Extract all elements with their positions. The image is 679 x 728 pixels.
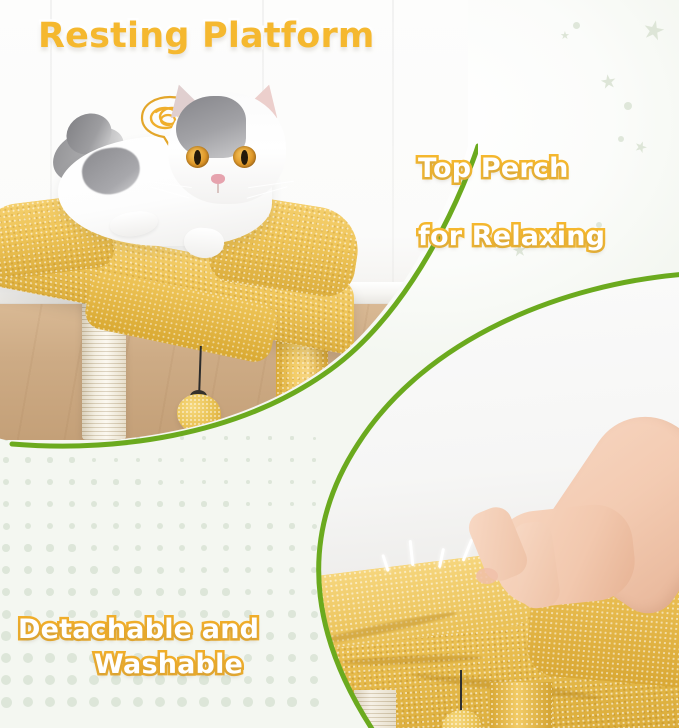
pattern-dot <box>69 501 75 507</box>
pattern-dot <box>47 501 53 507</box>
pattern-dot <box>224 436 228 440</box>
pattern-dot <box>179 567 186 574</box>
pattern-dot <box>290 458 294 462</box>
pattern-dot <box>157 501 163 507</box>
pattern-dot <box>311 589 318 596</box>
pattern-dot <box>25 523 32 530</box>
pattern-dot <box>268 436 271 439</box>
pattern-dot <box>69 523 76 530</box>
pattern-dot <box>3 479 9 485</box>
pattern-dot <box>267 523 272 528</box>
pattern-dot <box>223 501 228 506</box>
pattern-dot <box>202 458 206 462</box>
cat-nose <box>211 174 225 184</box>
pattern-dot <box>1 653 11 663</box>
pattern-dot <box>265 697 274 706</box>
pattern-dot <box>158 480 163 485</box>
pattern-dot <box>135 523 141 529</box>
pattern-dot <box>158 436 162 440</box>
pattern-dot <box>289 523 294 528</box>
pattern-dot <box>289 567 295 573</box>
pattern-dot <box>3 523 10 530</box>
pattern-dot <box>3 457 9 463</box>
pattern-dot <box>201 545 207 551</box>
pattern-dot <box>69 479 75 485</box>
pattern-dot <box>311 611 318 618</box>
pattern-dot <box>180 480 185 485</box>
cat-mouth <box>217 184 219 193</box>
pattern-dot <box>1 631 11 641</box>
top-perch-heading-line2: for Relaxing <box>418 221 605 252</box>
pattern-dot <box>310 632 318 640</box>
pattern-dot <box>290 480 294 484</box>
pattern-dot <box>266 676 275 685</box>
pattern-dot <box>310 698 319 707</box>
pattern-dot <box>112 566 119 573</box>
pattern-dot <box>135 479 140 484</box>
pattern-dot <box>246 502 251 507</box>
dot-decoration <box>618 136 624 142</box>
pattern-dot <box>310 676 319 685</box>
pattern-dot <box>2 610 11 619</box>
pattern-dot <box>290 436 293 439</box>
cat <box>52 88 312 248</box>
pattern-dot <box>266 632 274 640</box>
pattern-dot <box>312 502 317 507</box>
pattern-dot <box>179 523 185 529</box>
pattern-dot <box>201 501 206 506</box>
pattern-dot <box>313 437 316 440</box>
cat-eye-right <box>233 146 256 168</box>
pattern-dot <box>135 501 141 507</box>
pattern-dot <box>114 458 119 463</box>
pattern-dot <box>136 458 141 463</box>
pattern-dot <box>290 502 295 507</box>
pattern-dot <box>223 545 229 551</box>
pattern-dot <box>69 457 74 462</box>
pattern-dot <box>246 480 250 484</box>
pattern-dot <box>266 610 273 617</box>
pattern-dot <box>134 566 141 573</box>
pattern-dot <box>157 567 164 574</box>
pattern-dot <box>1 675 12 686</box>
pattern-dot <box>90 566 97 573</box>
detachable-heading-line1: Detachable and <box>18 614 259 645</box>
pattern-dot <box>91 545 98 552</box>
pattern-dot <box>180 436 184 440</box>
pattern-dot <box>24 566 32 574</box>
cat-eye-left <box>186 146 209 168</box>
hand <box>472 478 679 628</box>
pattern-dot <box>312 480 316 484</box>
infographic-page: ★★★★★ <box>0 0 679 728</box>
pattern-dot <box>157 523 163 529</box>
fingernail <box>476 568 498 584</box>
pattern-dot <box>158 458 163 463</box>
pattern-dot <box>113 501 119 507</box>
pattern-dot <box>91 479 96 484</box>
pattern-dot <box>179 545 185 551</box>
pattern-dot <box>3 501 10 508</box>
pattern-dot <box>245 567 251 573</box>
toy-string <box>460 670 462 714</box>
pattern-dot <box>2 588 11 597</box>
dot-decoration <box>573 22 580 29</box>
pattern-dot <box>113 479 118 484</box>
pattern-dot <box>310 654 318 662</box>
pattern-dot <box>201 567 208 574</box>
pattern-dot <box>46 544 53 551</box>
pattern-dot <box>312 458 316 462</box>
pattern-dot <box>288 632 296 640</box>
detachable-heading-line2: Washable <box>18 647 259 682</box>
pattern-dot <box>268 480 272 484</box>
pattern-dot <box>287 697 296 706</box>
pattern-dot <box>245 523 250 528</box>
pattern-dot <box>1 697 12 708</box>
pattern-dot <box>25 479 31 485</box>
pattern-dot <box>246 436 249 439</box>
pattern-dot <box>311 567 317 573</box>
top-perch-heading-line1: Top Perch <box>418 153 569 184</box>
pattern-dot <box>289 589 296 596</box>
pattern-dot <box>267 589 274 596</box>
pattern-dot <box>24 544 31 551</box>
pattern-dot <box>202 436 206 440</box>
pattern-dot <box>25 501 31 507</box>
pattern-dot <box>288 654 296 662</box>
pattern-dot <box>267 567 273 573</box>
pattern-dot <box>223 523 229 529</box>
pattern-dot <box>311 545 317 551</box>
pattern-dot <box>2 544 10 552</box>
pattern-dot <box>268 502 273 507</box>
pattern-dot <box>92 458 97 463</box>
star-icon: ★ <box>599 72 619 93</box>
pattern-dot <box>91 501 97 507</box>
pattern-dot <box>25 457 30 462</box>
pattern-dot <box>68 566 76 574</box>
pattern-dot <box>180 458 184 462</box>
pattern-dot <box>288 610 295 617</box>
pattern-dot <box>46 566 54 574</box>
pattern-dot <box>68 544 75 551</box>
dot-decoration <box>624 102 632 110</box>
pattern-dot <box>266 654 274 662</box>
pattern-dot <box>268 458 272 462</box>
pattern-dot <box>267 545 273 551</box>
detachable-heading: Detachable and Washable <box>18 577 259 717</box>
pattern-dot <box>224 480 229 485</box>
pattern-dot <box>2 566 10 574</box>
pattern-dot <box>201 523 207 529</box>
pattern-dot <box>113 545 120 552</box>
star-icon: ★ <box>560 30 570 41</box>
pattern-dot <box>157 545 164 552</box>
pattern-dot <box>91 523 97 529</box>
pattern-dot <box>47 457 52 462</box>
pattern-dot <box>245 545 251 551</box>
pattern-dot <box>202 480 207 485</box>
pattern-dot <box>289 545 295 551</box>
top-perch-heading: Top Perch for Relaxing <box>418 118 605 254</box>
pattern-dot <box>135 545 142 552</box>
pattern-dot <box>223 567 230 574</box>
fleece-post <box>490 682 552 728</box>
pattern-dot <box>288 676 297 685</box>
pattern-dot <box>47 523 54 530</box>
page-title: Resting Platform <box>38 18 375 55</box>
pattern-dot <box>179 501 184 506</box>
pattern-dot <box>47 479 53 485</box>
pattern-dot <box>224 458 228 462</box>
pattern-dot <box>312 524 317 529</box>
pattern-dot <box>246 458 250 462</box>
pattern-dot <box>113 523 119 529</box>
